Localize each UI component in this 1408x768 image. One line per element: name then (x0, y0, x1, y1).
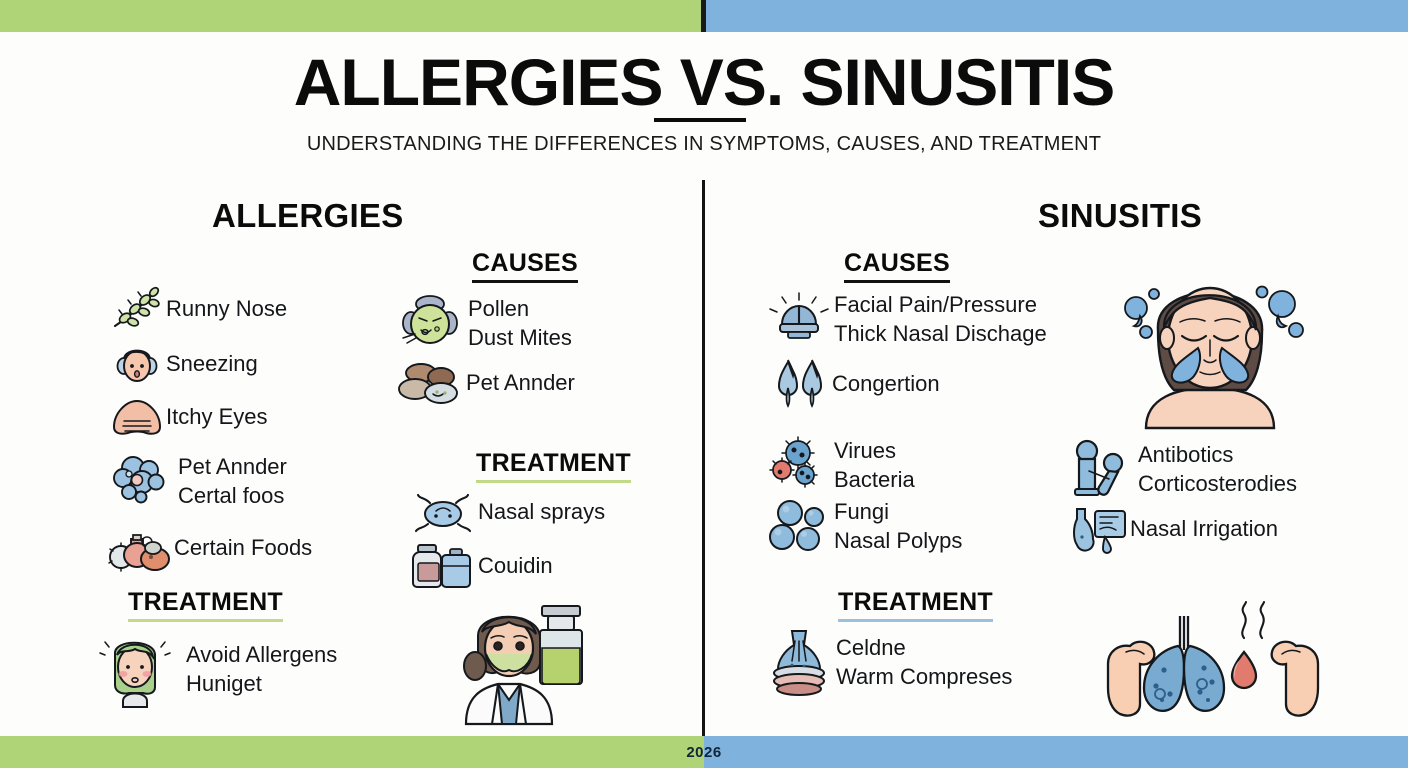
sneezing-face-icon (108, 342, 166, 386)
sinusitis-causes-heading: CAUSES (844, 249, 950, 283)
list-item: Runny Nose (108, 288, 287, 330)
list-item-label: Huniget (186, 669, 337, 698)
section-label: TREATMENT (476, 449, 631, 478)
list-item-label: Couidin (478, 551, 553, 580)
list-item-label: Pollen (468, 294, 572, 323)
lungs-steam-hands-icon (1104, 600, 1322, 722)
allergic-woman-icon (92, 630, 180, 708)
page-title: ALLERGIES VS. SINUSITIS (0, 48, 1408, 118)
list-item-label: Virues (834, 436, 915, 465)
list-item-label: Avoid Allergens (186, 640, 337, 669)
top-bar-green-half (0, 0, 704, 32)
section-label: TREATMENT (128, 588, 283, 617)
dander-cloud-icon (108, 450, 174, 512)
causes-labels: Facial Pain/Pressure Thick Nasal Dischag… (834, 290, 1047, 349)
list-item-group: Fungi Nasal Polyps (766, 497, 962, 556)
itchy-eyes-icon (108, 396, 166, 438)
sinusitis-medications-block: Antibotics Corticosterodies Nasal Irriga… (1068, 438, 1297, 554)
list-item-label: Pet Annder (178, 452, 287, 481)
list-item-label: Nasal Irrigation (1130, 514, 1278, 543)
nasal-drops-icon (766, 357, 832, 411)
list-item-group: Pollen Dust Mites (396, 292, 575, 354)
list-item-label: Runny Nose (166, 294, 287, 323)
list-item: Congertion (766, 357, 1047, 411)
allergies-treatment-block: Nasal sprays Couidin (408, 490, 605, 592)
causes-labels: Pollen Dust Mites (468, 294, 572, 353)
pathogen-labels-bottom: Fungi Nasal Polyps (834, 497, 962, 556)
list-item-label: Bacteria (834, 465, 915, 494)
allergies-advice-heading: TREATMENT (128, 588, 283, 622)
allergies-causes-heading: CAUSES (472, 249, 578, 283)
list-item-group: Antibotics Corticosterodies (1068, 438, 1297, 500)
list-item-label: Certain Foods (174, 533, 312, 562)
virus-icon (766, 436, 832, 494)
polyps-icon (766, 498, 832, 554)
section-label: TREATMENT (838, 588, 993, 617)
list-item-group: Virues Bacteria (766, 436, 962, 495)
list-item-label: Nasal sprays (478, 497, 605, 526)
list-item-label: Congertion (832, 369, 940, 398)
advice-labels: Avoid Allergens Huniget (186, 640, 337, 699)
irrigation-icon (1068, 504, 1130, 554)
list-item-label: Dust Mites (468, 323, 572, 352)
medicine-bottles-icon (408, 540, 478, 592)
list-item: Pet Annder (396, 360, 575, 406)
top-bar-divider (701, 0, 706, 32)
sinusitis-pathogens-block: Virues Bacteria (766, 436, 962, 555)
list-item-label: Certal foos (178, 481, 287, 510)
pathogen-labels-top: Virues Bacteria (834, 436, 915, 495)
sinusitis-causes-block: Facial Pain/Pressure Thick Nasal Dischag… (766, 290, 1047, 411)
list-item-group: Celdne Warm Compreses (766, 626, 1012, 698)
allergies-triggers-block: Pet Annder Certal foos (108, 450, 312, 574)
infographic-canvas: ALLERGIES VS. SINUSITIS UNDERSTANDING TH… (0, 0, 1408, 768)
list-item-label: Nasal Polyps (834, 526, 962, 555)
list-item-label: Itchy Eyes (166, 402, 267, 431)
allergies-advice-block: Avoid Allergens Huniget (92, 630, 337, 708)
list-item: Itchy Eyes (108, 396, 287, 438)
title-underline (654, 118, 746, 122)
top-bar-blue-half (704, 0, 1408, 32)
sinusitis-treatment-block: Celdne Warm Compreses (766, 626, 1012, 698)
section-underline (476, 480, 631, 483)
list-item: Nasal sprays (408, 490, 605, 534)
section-underline (128, 619, 283, 622)
neti-pot-icon (766, 626, 832, 698)
section-label: CAUSES (844, 249, 950, 278)
section-label: CAUSES (472, 249, 578, 278)
list-item-label: Warm Compreses (836, 662, 1012, 691)
list-item-label: Sneezing (166, 349, 258, 378)
list-item-label: Corticosterodies (1138, 469, 1297, 498)
list-item-label: Pet Annder (466, 368, 575, 397)
sinus-pressure-icon (766, 291, 832, 347)
treatment-labels: Celdne Warm Compreses (836, 633, 1012, 692)
list-item-group: Pet Annder Certal foos (108, 450, 312, 512)
list-item: Certain Foods (108, 522, 312, 574)
column-heading-allergies: ALLERGIES (212, 197, 404, 235)
dust-mite-icon (396, 360, 466, 406)
list-item-label: Antibotics (1138, 440, 1297, 469)
list-item-label: Fungi (834, 497, 962, 526)
column-divider (702, 180, 705, 736)
list-item-label: Thick Nasal Dischage (834, 319, 1047, 348)
allergies-treatment-heading: TREATMENT (476, 449, 631, 483)
allergies-causes-block: Pollen Dust Mites Pet Annder (396, 292, 575, 406)
list-item-group: Facial Pain/Pressure Thick Nasal Dischag… (766, 290, 1047, 349)
sinus-woman-portrait-icon (1110, 256, 1310, 428)
doctor-testtube-icon (442, 596, 598, 730)
sinusitis-treatment-heading: TREATMENT (838, 588, 993, 622)
list-item: Couidin (408, 540, 605, 592)
allergy-face-icon (396, 292, 466, 354)
food-allergens-icon (108, 522, 174, 574)
section-underline (838, 619, 993, 622)
antibiotics-icon (1068, 438, 1130, 500)
pollen-branch-icon (108, 288, 166, 330)
column-heading-sinusitis: SINUSITIS (1038, 197, 1202, 235)
list-item-label: Celdne (836, 633, 1012, 662)
section-underline (844, 280, 950, 283)
triggers-labels: Pet Annder Certal foos (178, 452, 287, 511)
section-underline (472, 280, 578, 283)
top-accent-bar (0, 0, 1408, 32)
list-item-label: Facial Pain/Pressure (834, 290, 1047, 319)
allergies-symptoms-block: Runny Nose Sneezing (108, 288, 287, 438)
list-item: Sneezing (108, 342, 287, 386)
list-item: Nasal Irrigation (1068, 504, 1297, 554)
footer-year: 2026 (0, 736, 1408, 768)
list-item-group: Avoid Allergens Huniget (92, 630, 337, 708)
page-subtitle: UNDERSTANDING THE DIFFERENCES IN SYMPTOM… (0, 133, 1408, 156)
nasal-spray-icon (408, 490, 478, 534)
medication-labels-top: Antibotics Corticosterodies (1138, 440, 1297, 499)
